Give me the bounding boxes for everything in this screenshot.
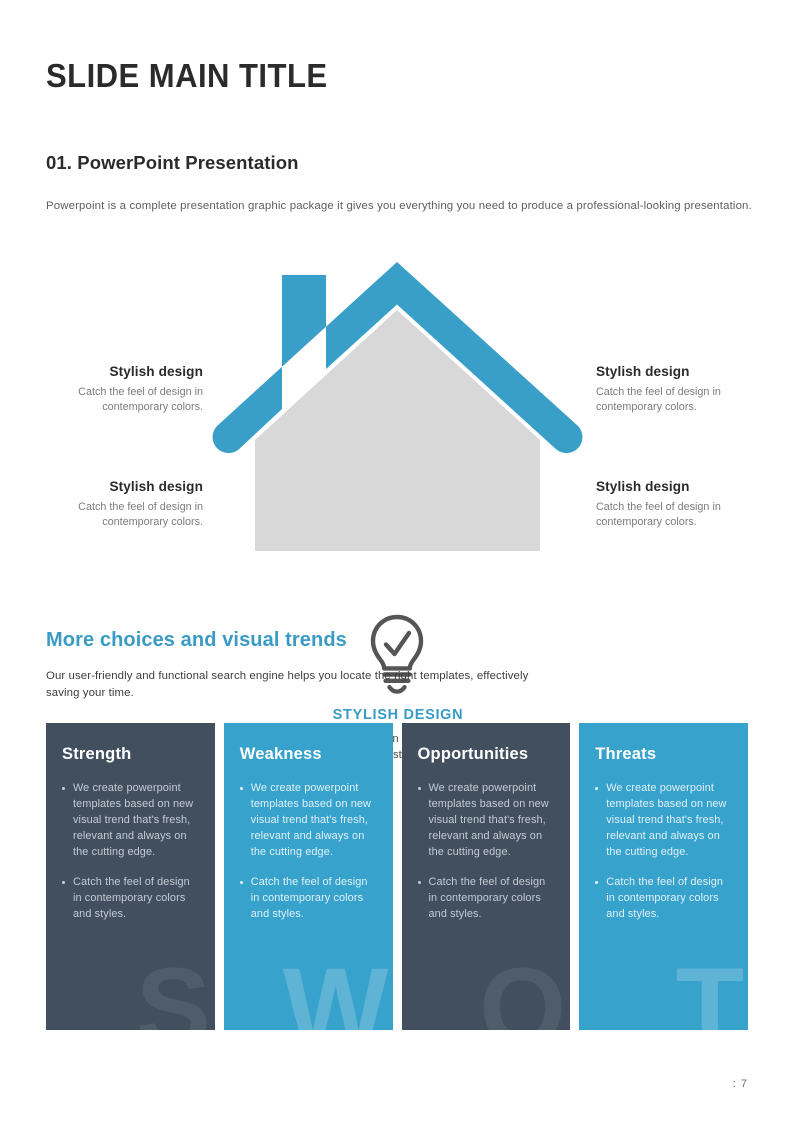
callout-right-top: Stylish design Catch the feel of design … [596, 364, 771, 415]
swot-watermark-letter: S [136, 952, 209, 1030]
swot-bullet: We create powerpoint templates based on … [240, 780, 377, 860]
callout-title: Stylish design [596, 479, 771, 494]
swot-watermark-letter: W [283, 952, 387, 1030]
swot-bullet: We create powerpoint templates based on … [418, 780, 555, 860]
swot-bullet: Catch the feel of design in contemporary… [418, 874, 555, 922]
footer-page-number: : 7 [733, 1078, 748, 1090]
callout-body: Catch the feel of design in contemporary… [596, 500, 771, 530]
page-title: SLIDE MAIN TITLE [46, 57, 328, 95]
callout-body: Catch the feel of design in contemporary… [28, 385, 203, 415]
swot-card-strength[interactable]: Strength We create powerpoint templates … [46, 723, 215, 1030]
callout-title: Stylish design [596, 364, 771, 379]
swot-bullet: We create powerpoint templates based on … [62, 780, 199, 860]
callout-body: Catch the feel of design in contemporary… [28, 500, 203, 530]
slide-canvas: SLIDE MAIN TITLE 01. PowerPoint Presenta… [0, 0, 794, 1123]
callout-body: Catch the feel of design in contemporary… [596, 385, 771, 415]
section-heading-01: 01. PowerPoint Presentation [46, 152, 299, 174]
swot-card-weakness[interactable]: Weakness We create powerpoint templates … [224, 723, 393, 1030]
swot-bullet-list: We create powerpoint templates based on … [418, 780, 555, 922]
swot-bullet: Catch the feel of design in contemporary… [62, 874, 199, 922]
swot-card-threats[interactable]: Threats We create powerpoint templates b… [579, 723, 748, 1030]
trends-heading: More choices and visual trends [46, 629, 347, 652]
swot-card-title: Opportunities [418, 745, 555, 764]
callout-title: Stylish design [28, 479, 203, 494]
section-paragraph-01: Powerpoint is a complete presentation gr… [46, 197, 753, 215]
swot-bullet: We create powerpoint templates based on … [595, 780, 732, 860]
swot-card-row: Strength We create powerpoint templates … [46, 723, 748, 1030]
swot-bullet-list: We create powerpoint templates based on … [62, 780, 199, 922]
callout-left-top: Stylish design Catch the feel of design … [28, 364, 203, 415]
swot-bullet: Catch the feel of design in contemporary… [240, 874, 377, 922]
swot-watermark-letter: O [479, 952, 564, 1030]
swot-card-title: Strength [62, 745, 199, 764]
trends-paragraph: Our user-friendly and functional search … [46, 668, 546, 702]
swot-watermark-letter: T [676, 952, 742, 1030]
callout-title: Stylish design [28, 364, 203, 379]
callout-right-bottom: Stylish design Catch the feel of design … [596, 479, 771, 530]
house-shape [200, 250, 600, 560]
swot-bullet-list: We create powerpoint templates based on … [595, 780, 732, 922]
swot-card-title: Threats [595, 745, 732, 764]
swot-bullet-list: We create powerpoint templates based on … [240, 780, 377, 922]
house-center-title: STYLISH DESIGN [278, 707, 518, 723]
callout-left-bottom: Stylish design Catch the feel of design … [28, 479, 203, 530]
swot-card-opportunities[interactable]: Opportunities We create powerpoint templ… [402, 723, 571, 1030]
swot-card-title: Weakness [240, 745, 377, 764]
swot-bullet: Catch the feel of design in contemporary… [595, 874, 732, 922]
